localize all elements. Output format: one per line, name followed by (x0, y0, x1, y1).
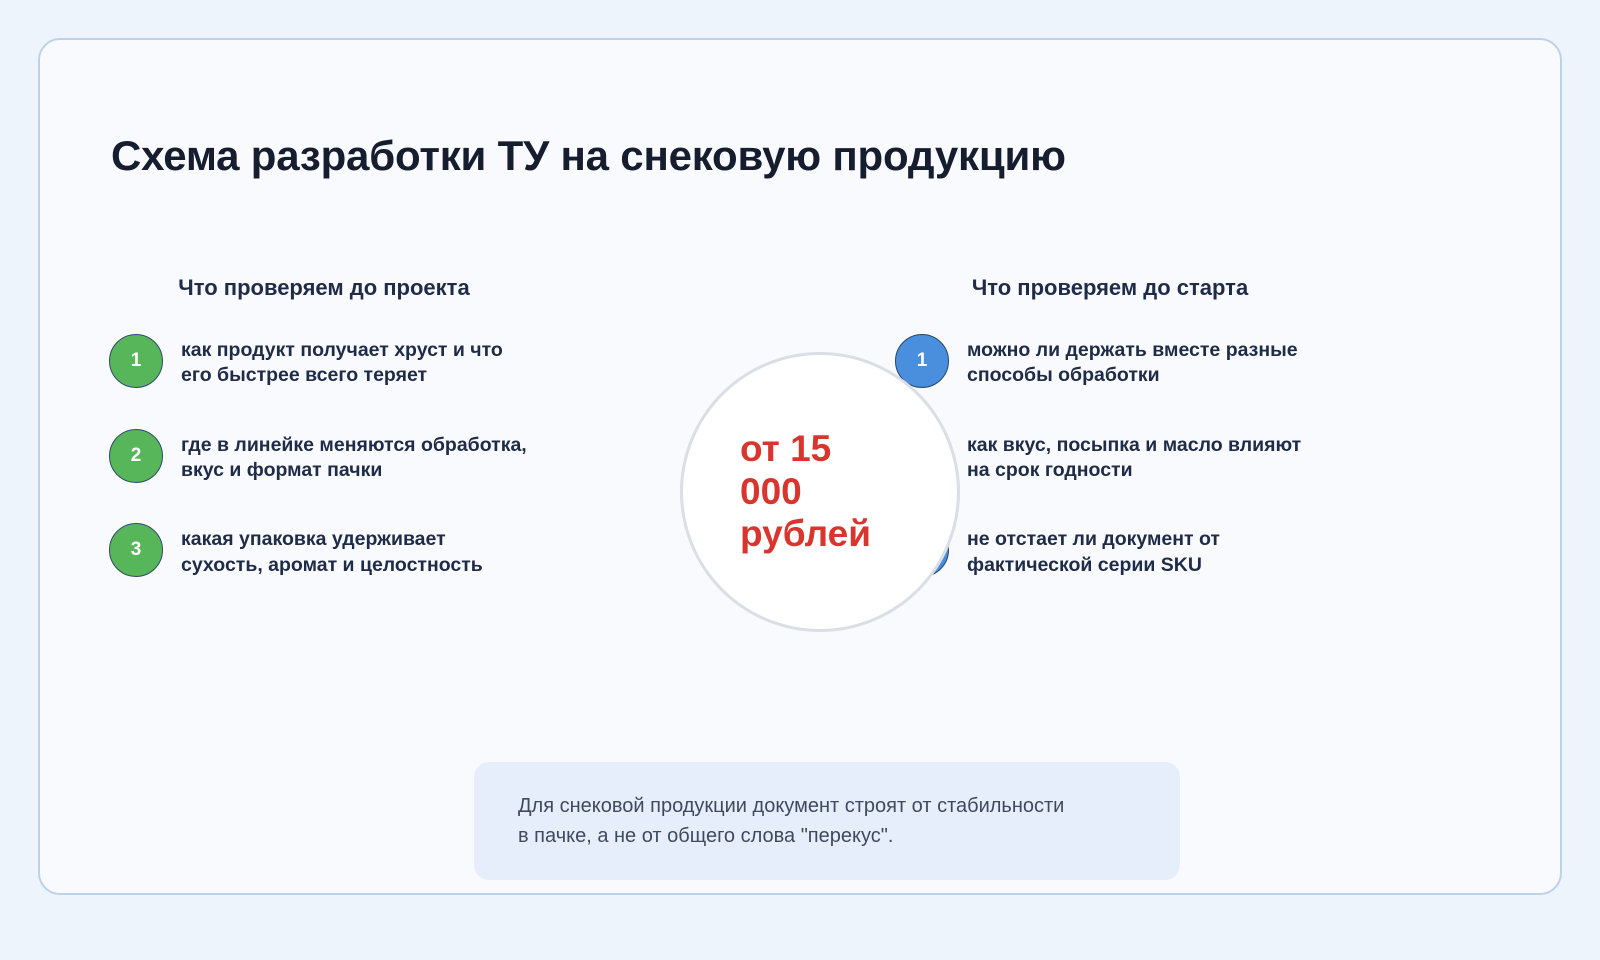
badge-number-icon: 2 (109, 429, 163, 483)
footer-note-box: Для снековой продукции документ строят о… (474, 762, 1180, 880)
footer-note-text: Для снековой продукции документ строят о… (474, 791, 1122, 851)
list-item: 2 как вкус, посыпка и масло влияют на ср… (895, 427, 1325, 484)
list-item-label: как продукт получает хруст и что его быс… (181, 332, 531, 389)
list-item: 1 можно ли держать вместе разные способы… (895, 332, 1325, 389)
list-item: 3 какая упаковка удерживает сухость, аро… (109, 521, 539, 578)
list-item-label: какая упаковка удерживает сухость, арома… (181, 521, 531, 578)
column-heading-left: Что проверяем до проекта (109, 275, 539, 301)
column-heading-right: Что проверяем до старта (895, 275, 1325, 301)
checklist-left: 1 как продукт получает хруст и что его б… (109, 332, 539, 578)
list-item-label: как вкус, посыпка и масло влияют на срок… (967, 427, 1317, 484)
badge-number-icon: 1 (109, 334, 163, 388)
checklist-right: 1 можно ли держать вместе разные способы… (895, 332, 1325, 578)
badge-number-icon: 3 (109, 523, 163, 577)
price-label: от 15 000 рублей (740, 428, 900, 557)
list-item-label: где в линейке меняются обработка, вкус и… (181, 427, 531, 484)
list-item: 3 не отстает ли документ от фактической … (895, 521, 1325, 578)
price-circle: от 15 000 рублей (680, 352, 960, 632)
column-before-project: Что проверяем до проекта 1 как продукт п… (109, 275, 539, 578)
column-before-start: Что проверяем до старта 1 можно ли держа… (895, 275, 1325, 578)
infographic-card: Схема разработки ТУ на снековую продукци… (38, 38, 1562, 895)
list-item: 2 где в линейке меняются обработка, вкус… (109, 427, 539, 484)
list-item-label: не отстает ли документ от фактической се… (967, 521, 1317, 578)
page-title: Схема разработки ТУ на снековую продукци… (111, 128, 1111, 183)
list-item-label: можно ли держать вместе разные способы о… (967, 332, 1317, 389)
list-item: 1 как продукт получает хруст и что его б… (109, 332, 539, 389)
